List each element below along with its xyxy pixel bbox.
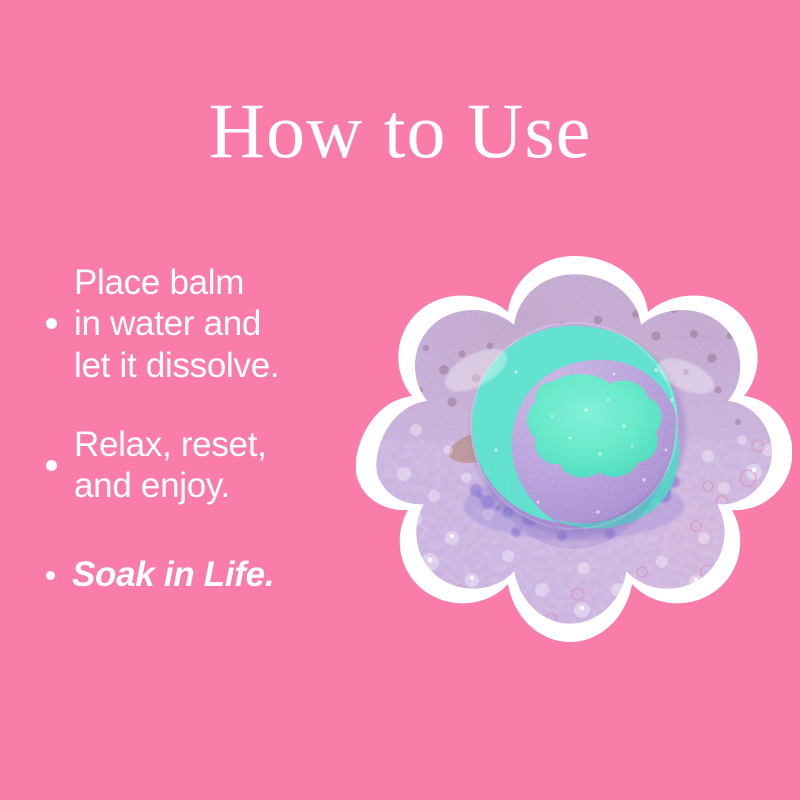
flower-photo bbox=[356, 250, 792, 654]
bullet-dot-icon bbox=[46, 460, 57, 471]
flower-photo-svg bbox=[356, 250, 792, 654]
list-item-label: Soak in Life. bbox=[72, 554, 274, 595]
bullet-dot-icon bbox=[46, 318, 57, 329]
list-item-label: Relax, reset, and enjoy. bbox=[74, 424, 267, 507]
list-item: Place balm in water and let it dissolve. bbox=[46, 262, 346, 386]
list-item-label: Place balm in water and let it dissolve. bbox=[74, 262, 279, 386]
poster-canvas: How to Use Place balm in water and let i… bbox=[0, 0, 800, 800]
list-item: Soak in Life. bbox=[46, 554, 346, 595]
list-item: Relax, reset, and enjoy. bbox=[46, 424, 346, 507]
instruction-list: Place balm in water and let it dissolve.… bbox=[46, 262, 346, 626]
page-title: How to Use bbox=[0, 92, 800, 170]
bullet-dot-icon bbox=[46, 571, 55, 580]
